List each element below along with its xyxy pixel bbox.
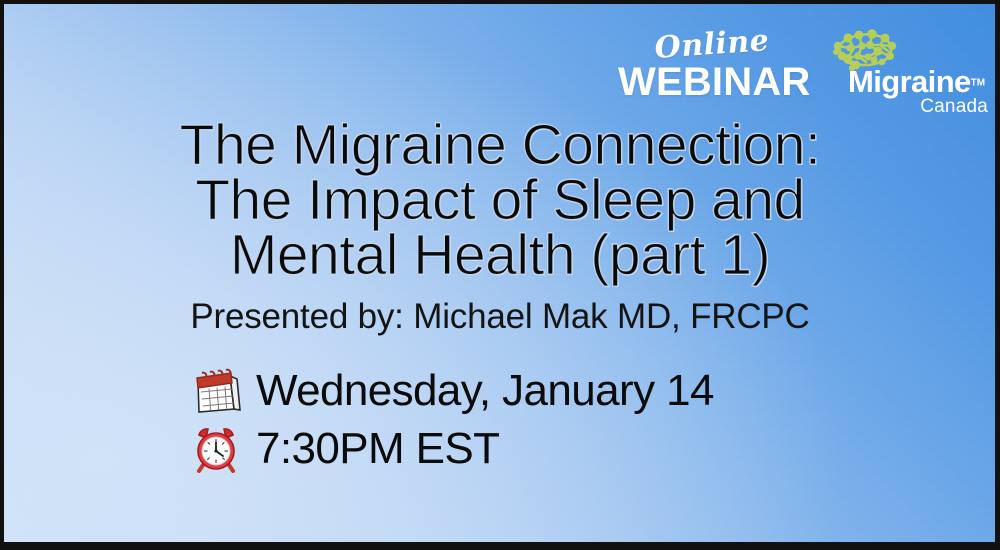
title-line-3: Mental Health (part 1) — [0, 228, 1000, 283]
page-title: The Migraine Connection: The Impact of S… — [0, 118, 1000, 283]
event-date-row: Wednesday, January 14 — [190, 362, 890, 420]
title-line-1: The Migraine Connection: — [0, 118, 1000, 173]
title-line-2: The Impact of Sleep and — [0, 173, 1000, 228]
webinar-promo-banner: Online WEBINAR — [0, 0, 1000, 550]
webinar-label: WEBINAR — [618, 61, 808, 103]
logo-trademark-symbol: TM — [971, 78, 985, 89]
event-details: Wednesday, January 14 — [190, 362, 890, 478]
migraine-canada-logo: MigraineTM Canada — [820, 26, 990, 118]
alarm-clock-icon — [190, 423, 242, 475]
calendar-icon — [190, 365, 242, 417]
event-time-row: 7:30PM EST — [190, 420, 890, 478]
presenter-line: Presented by: Michael Mak MD, FRCPC — [0, 297, 1000, 337]
event-time-text: 7:30PM EST — [256, 424, 499, 474]
logo-name: Migraine — [848, 66, 971, 97]
logo-subname: Canada — [848, 96, 990, 117]
logo-wordmark: MigraineTM Canada — [848, 66, 990, 117]
event-date-text: Wednesday, January 14 — [256, 366, 714, 416]
webinar-header: Online WEBINAR — [618, 30, 808, 103]
